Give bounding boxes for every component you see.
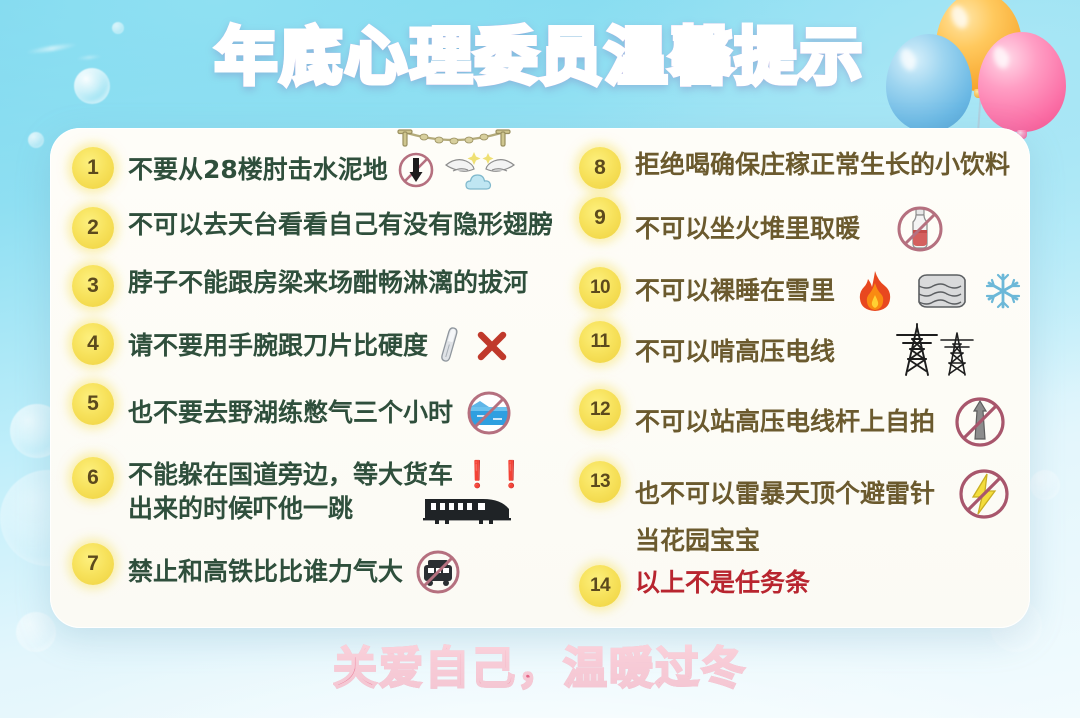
no-bottle-icon xyxy=(892,199,948,259)
tip-line: 不可以去天台看看自己有没有隐形翅膀 xyxy=(128,209,553,241)
tip-number-badge: 12 xyxy=(579,389,621,431)
tip-text: 不要从28楼肘击水泥地 xyxy=(128,154,388,186)
tip-number-badge: 7 xyxy=(72,543,114,585)
tip-body: 不要从28楼肘击水泥地 xyxy=(128,146,553,191)
tip-line: 当花园宝宝 xyxy=(635,525,1023,557)
tips-card: 1 不要从28楼肘击水泥地 xyxy=(50,128,1030,628)
blue-balloon xyxy=(886,34,972,132)
no-lightning-icon xyxy=(953,463,1015,525)
bubble-streak-1 xyxy=(26,42,78,55)
tip-number-badge: 9 xyxy=(579,197,621,239)
tip-text: 不可以去天台看看自己有没有隐形翅膀 xyxy=(128,209,553,241)
bubble-streak-2 xyxy=(76,55,102,61)
tip-number-badge: 14 xyxy=(579,565,621,607)
bubble-icon-5 xyxy=(16,612,56,652)
tip-item-7: 7 禁止和高铁比比谁力气大 xyxy=(72,542,553,614)
tip-body: 禁止和高铁比比谁力气大 xyxy=(128,542,553,599)
bubble-icon-8 xyxy=(112,22,124,34)
tip-number-badge: 5 xyxy=(72,383,114,425)
no-swimming-lake-icon xyxy=(461,385,517,441)
tip-line: 以上不是任务条 xyxy=(635,567,1023,599)
double-exclamation-icon: ❗❗ xyxy=(461,462,530,488)
poster-footer: 关爱自己，温暖过冬 xyxy=(333,632,747,696)
poster-canvas: 年底心理委员温馨提示 1 不要从28楼肘击水泥地 xyxy=(0,0,1080,718)
tip-line: 请不要用手腕跟刀片比硬度 xyxy=(128,325,553,367)
tip-line: 脖子不能跟房梁来场酣畅淋漓的拔河 xyxy=(128,267,553,299)
tip-item-12: 12 不可以站高压电线杆上自拍 xyxy=(579,388,1023,460)
tip-number-badge: 11 xyxy=(579,321,621,363)
no-utility-pole-icon xyxy=(949,391,1011,453)
tip-body: 不可以站高压电线杆上自拍 xyxy=(635,388,1023,453)
tip-item-5: 5 也不要去野湖练憋气三个小时 xyxy=(72,382,553,456)
tip-text: 不可以坐火堆里取暖 xyxy=(635,213,860,245)
tip-number-badge: 10 xyxy=(579,267,621,309)
tip-line: 也不可以雷暴天顶个避雷针 xyxy=(635,463,1023,525)
balloon-cluster xyxy=(884,0,1074,136)
tip-line: 不要从28楼肘击水泥地 xyxy=(128,149,553,191)
tip-body: 拒绝喝确保庄稼正常生长的小饮料 xyxy=(635,146,1023,181)
tip-body: 不可以去天台看看自己有没有隐形翅膀 xyxy=(128,206,553,241)
tip-text: 禁止和高铁比比谁力气大 xyxy=(128,556,403,588)
right-column: 8 拒绝喝确保庄稼正常生长的小饮料 9 不可以坐火堆里取暖 xyxy=(561,146,1023,614)
tip-number-badge: 3 xyxy=(72,265,114,307)
tip-body: 不可以啃高压电线 xyxy=(635,320,1023,381)
tip-body: 也不要去野湖练憋气三个小时 xyxy=(128,382,553,441)
tip-text: 不可以站高压电线杆上自拍 xyxy=(635,406,935,438)
rope-barrier-icon xyxy=(394,124,514,150)
tip-line: 不能躲在国道旁边，等大货车 ❗❗ xyxy=(128,459,553,491)
left-column: 1 不要从28楼肘击水泥地 xyxy=(72,146,561,614)
tip-item-11: 11 不可以啃高压电线 xyxy=(579,320,1023,388)
tip-text: 不可以裸睡在雪里 xyxy=(635,275,835,307)
tip-punchline-text: 以上不是任务条 xyxy=(635,567,810,599)
no-train-icon xyxy=(411,545,465,599)
tip-item-1: 1 不要从28楼肘击水泥地 xyxy=(72,146,553,206)
no-down-arrow-icon xyxy=(396,150,436,190)
blade-icon xyxy=(436,325,466,367)
tip-body: 不可以坐火堆里取暖 xyxy=(635,196,1023,259)
tip-line: 不可以啃高压电线 xyxy=(635,323,1023,381)
tip-body: 不可以裸睡在雪里 xyxy=(635,266,1023,313)
tip-number-badge: 2 xyxy=(72,207,114,249)
tip-text: 不能躲在国道旁边，等大货车 xyxy=(128,459,453,491)
tip-body: 不能躲在国道旁边，等大货车 ❗❗ 出来的时候吓他一跳 xyxy=(128,456,553,527)
tip-number-badge: 13 xyxy=(579,461,621,503)
poster-title: 年底心理委员温馨提示 xyxy=(215,22,865,91)
tip-line: 出来的时候吓他一跳 xyxy=(128,491,553,527)
tip-body: 脖子不能跟房梁来场酣畅淋漓的拔河 xyxy=(128,264,553,299)
snowflake-icon xyxy=(983,271,1023,311)
fire-icon xyxy=(857,269,893,313)
tip-item-10: 10 不可以裸睡在雪里 xyxy=(579,266,1023,320)
tip-number-badge: 1 xyxy=(72,147,114,189)
tip-item-4: 4 请不要用手腕跟刀片比硬度 xyxy=(72,322,553,382)
poster-footer-container: 关爱自己，温暖过冬 xyxy=(0,632,1080,696)
tip-text: 也不可以雷暴天顶个避雷针 xyxy=(635,478,935,510)
train-icon xyxy=(421,491,517,527)
bubble-icon-1 xyxy=(74,68,110,104)
bubble-icon-2 xyxy=(28,132,44,148)
tip-text: 出来的时候吓他一跳 xyxy=(128,493,353,525)
bubble-icon-7 xyxy=(1030,470,1060,500)
tip-item-13: 13 也不可以雷暴天顶个避雷针 当花园宝宝 xyxy=(579,460,1023,564)
tip-line: 不可以站高压电线杆上自拍 xyxy=(635,391,1023,453)
red-x-icon xyxy=(474,328,510,364)
poster-title-container: 年底心理委员温馨提示 xyxy=(0,22,1080,91)
tip-number-badge: 6 xyxy=(72,457,114,499)
tip-body: 请不要用手腕跟刀片比硬度 xyxy=(128,322,553,367)
tip-text: 不可以啃高压电线 xyxy=(635,336,835,368)
tip-item-9: 9 不可以坐火堆里取暖 xyxy=(579,196,1023,266)
power-pylon-icon xyxy=(887,323,983,381)
tip-text: 拒绝喝确保庄稼正常生长的小饮料 xyxy=(635,149,1010,181)
tip-item-6: 6 不能躲在国道旁边，等大货车 ❗❗ 出来的时候吓他一跳 xyxy=(72,456,553,542)
tip-line: 不可以裸睡在雪里 xyxy=(635,269,1023,313)
tip-line: 不可以坐火堆里取暖 xyxy=(635,199,1023,259)
tip-item-2: 2 不可以去天台看看自己有没有隐形翅膀 xyxy=(72,206,553,264)
quilt-icon xyxy=(913,270,971,312)
angel-wings-cloud-icon xyxy=(444,149,516,191)
tip-line: 禁止和高铁比比谁力气大 xyxy=(128,545,553,599)
tip-text: 也不要去野湖练憋气三个小时 xyxy=(128,397,453,429)
tip-body: 也不可以雷暴天顶个避雷针 当花园宝宝 xyxy=(635,460,1023,557)
orange-balloon xyxy=(936,0,1022,91)
tip-text: 脖子不能跟房梁来场酣畅淋漓的拔河 xyxy=(128,267,528,299)
tip-number-badge: 4 xyxy=(72,323,114,365)
tip-item-14: 14 以上不是任务条 xyxy=(579,564,1023,614)
tip-line: 也不要去野湖练憋气三个小时 xyxy=(128,385,553,441)
tip-body: 以上不是任务条 xyxy=(635,564,1023,599)
pink-balloon xyxy=(978,32,1066,132)
tip-number-badge: 8 xyxy=(579,147,621,189)
tip-line: 拒绝喝确保庄稼正常生长的小饮料 xyxy=(635,149,1023,181)
tip-item-3: 3 xyxy=(72,264,553,322)
tip-text: 请不要用手腕跟刀片比硬度 xyxy=(128,330,428,362)
tip-text: 当花园宝宝 xyxy=(635,525,760,557)
tip-item-8: 8 拒绝喝确保庄稼正常生长的小饮料 xyxy=(579,146,1023,196)
